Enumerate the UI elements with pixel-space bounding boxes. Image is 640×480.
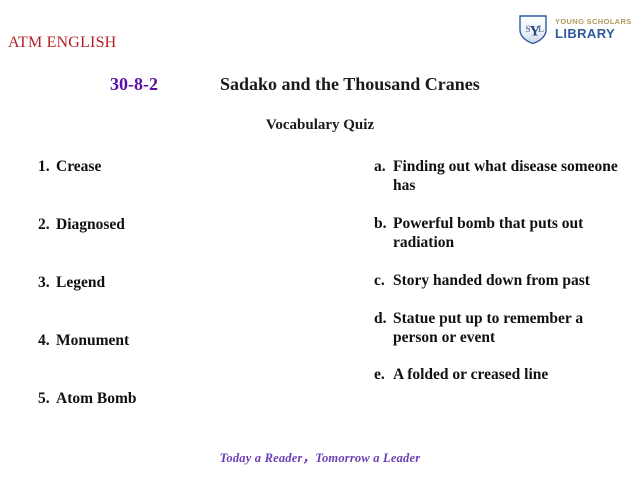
term-marker: 3. [38,273,56,292]
list-item: d.Statue put up to remember a person or … [374,309,624,347]
definition-label: Finding out what disease someone has [393,158,618,194]
definition-label: Powerful bomb that puts out radiation [393,215,583,251]
brand-label: ATM ENGLISH [8,34,116,52]
term-marker: 5. [38,389,56,408]
definition-label: A folded or creased line [393,366,548,383]
slide-canvas: S Y L YOUNG SCHOLARS LIBRARY ATM ENGLISH… [0,0,640,480]
list-item: a.Finding out what disease someone has [374,157,624,195]
shield-crest-icon: S Y L [516,12,550,46]
definition-marker: a. [374,157,386,176]
term-marker: 1. [38,157,56,176]
definition-label: Story handed down from past [393,272,590,289]
list-item: 4.Monument [38,331,338,389]
list-item: c.Story handed down from past [374,271,624,290]
footer-motto: Today a Reader，Tomorrow a Leader [0,447,640,466]
list-item: 1.Crease [38,157,338,215]
lesson-code: 30-8-2 [110,74,158,95]
logo-line-young-scholars: YOUNG SCHOLARS [555,18,632,26]
definition-label: Statue put up to remember a person or ev… [393,310,583,346]
list-item: 3.Legend [38,273,338,331]
term-marker: 4. [38,331,56,350]
term-marker: 2. [38,215,56,234]
term-label: Atom Bomb [56,390,137,407]
definitions-column: a.Finding out what disease someone has b… [374,157,624,403]
svg-text:L: L [538,24,544,34]
terms-column: 1.Crease 2.Diagnosed 3.Legend 4.Monument… [38,157,338,447]
term-label: Monument [56,332,129,349]
logo-line-library: LIBRARY [555,27,632,40]
definition-marker: b. [374,214,387,233]
list-item: e.A folded or creased line [374,365,624,384]
definition-marker: d. [374,309,387,328]
term-label: Legend [56,274,105,291]
page-title: Sadako and the Thousand Cranes [220,74,480,95]
definition-marker: e. [374,365,385,384]
page-subtitle: Vocabulary Quiz [0,117,640,134]
term-label: Diagnosed [56,216,125,233]
logo-wordmark: YOUNG SCHOLARS LIBRARY [555,18,632,41]
young-scholars-library-logo: S Y L YOUNG SCHOLARS LIBRARY [516,10,632,48]
list-item: b.Powerful bomb that puts out radiation [374,214,624,252]
list-item: 5.Atom Bomb [38,389,338,447]
title-row: 30-8-2 Sadako and the Thousand Cranes [0,74,640,100]
list-item: 2.Diagnosed [38,215,338,273]
definition-marker: c. [374,271,385,290]
term-label: Crease [56,158,101,175]
